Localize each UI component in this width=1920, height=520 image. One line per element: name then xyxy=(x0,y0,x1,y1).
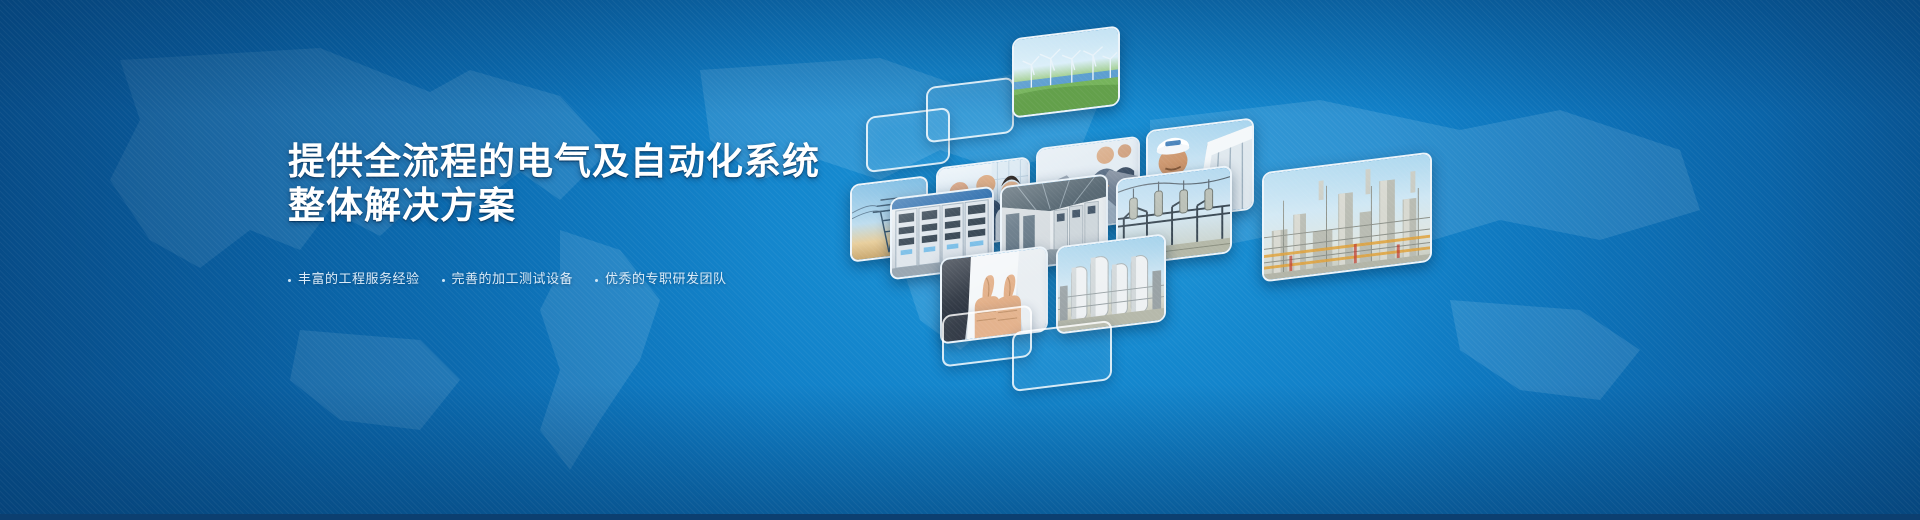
refinery-art xyxy=(1264,154,1430,280)
hero-banner: 提供全流程的电气及自动化系统 整体解决方案 丰富的工程服务经验 完善的加工测试设… xyxy=(0,0,1920,520)
headline-line-2: 整体解决方案 xyxy=(288,184,908,228)
bullet-dot-icon xyxy=(595,279,598,282)
collage-tile-refinery[interactable] xyxy=(1262,152,1432,283)
feature-label: 完善的加工测试设备 xyxy=(452,272,574,288)
collage-tile-wind-farm[interactable] xyxy=(1012,25,1120,118)
collage-tile-gas-tanks[interactable] xyxy=(1056,233,1166,335)
collage-tile-empty-frame-4[interactable] xyxy=(1012,320,1112,392)
headline-line-1: 提供全流程的电气及自动化系统 xyxy=(288,140,908,184)
feature-list: 丰富的工程服务经验 完善的加工测试设备 优秀的专职研发团队 xyxy=(288,272,908,288)
wind-farm-art xyxy=(1014,28,1118,117)
collage-tile-empty-frame-2[interactable] xyxy=(926,77,1014,144)
gas-tanks-art xyxy=(1058,235,1164,332)
bullet-dot-icon xyxy=(288,279,291,282)
feature-item: 丰富的工程服务经验 xyxy=(288,272,420,288)
feature-item: 优秀的专职研发团队 xyxy=(595,272,727,288)
bottom-accent-bar xyxy=(0,514,1920,520)
hero-copy: 提供全流程的电气及自动化系统 整体解决方案 丰富的工程服务经验 完善的加工测试设… xyxy=(288,140,908,288)
feature-label: 优秀的专职研发团队 xyxy=(605,272,727,288)
bullet-dot-icon xyxy=(442,279,445,282)
feature-item: 完善的加工测试设备 xyxy=(442,272,574,288)
feature-label: 丰富的工程服务经验 xyxy=(298,272,420,288)
image-collage xyxy=(820,0,1920,520)
